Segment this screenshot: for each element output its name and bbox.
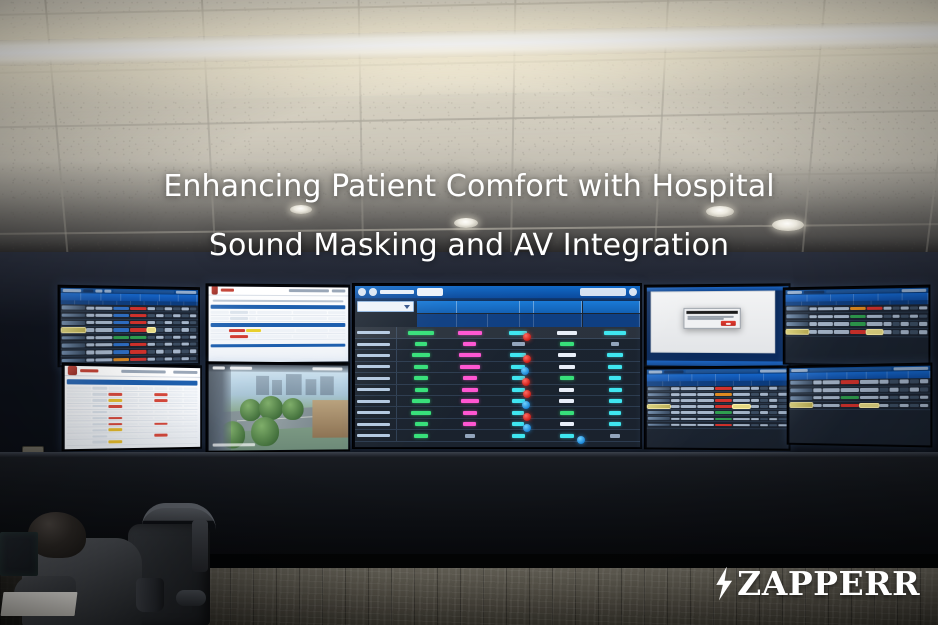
cctv-street-camera-feed (208, 364, 348, 450)
cell-occupied[interactable] (446, 434, 494, 438)
report-header-band (211, 323, 345, 326)
video-wall (56, 280, 934, 452)
hospital-capacity-matrix (355, 286, 640, 447)
row-label (355, 362, 398, 372)
cell-occupied[interactable] (446, 353, 494, 357)
cell-available[interactable] (397, 365, 445, 369)
camera-footer-label (212, 443, 255, 446)
row-label (355, 327, 398, 337)
report-data-grid (211, 310, 345, 322)
cell-occupied[interactable] (446, 342, 494, 346)
alert-dialog[interactable] (683, 308, 741, 328)
report-footer-band (211, 343, 345, 347)
laptop[interactable] (0, 532, 38, 576)
column-header (520, 314, 534, 327)
cell-pending[interactable] (591, 422, 639, 426)
computer-mouse[interactable] (176, 590, 206, 606)
grid-icon[interactable] (358, 288, 366, 296)
app-logo-icon (211, 286, 217, 295)
recessed-downlight (454, 218, 478, 228)
display-panel-regional-occupancy[interactable] (783, 285, 931, 368)
cell-admitted[interactable] (543, 399, 591, 403)
display-panel-bed-board[interactable] (58, 285, 200, 368)
table-row[interactable] (355, 419, 640, 430)
table-row[interactable] (785, 321, 928, 329)
cell-admitted[interactable] (543, 353, 591, 357)
row-label (355, 407, 398, 417)
cell-admitted[interactable] (543, 342, 591, 346)
cell-occupied[interactable] (446, 331, 494, 335)
unit-filter-dropdown[interactable] (357, 301, 414, 312)
screenshot-scene: Enhancing Patient Comfort with Hospital … (0, 0, 938, 625)
display-panel-alert-dialog[interactable] (644, 283, 791, 368)
alert-badge-icon[interactable] (522, 378, 530, 386)
cell-admitted[interactable] (543, 365, 591, 369)
alert-badge-icon[interactable] (523, 390, 531, 398)
cell-admitted[interactable] (543, 434, 591, 438)
cell-escalation[interactable] (494, 399, 542, 403)
recessed-downlight (290, 205, 312, 214)
transfer-queue-board (789, 365, 930, 445)
display-panel-capacity-matrix[interactable] (352, 283, 642, 449)
info-badge-icon[interactable] (521, 367, 529, 375)
cell-escalation[interactable] (494, 331, 542, 335)
matrix-title (380, 290, 414, 294)
app-logo-icon (67, 366, 76, 375)
info-badge-icon[interactable] (577, 436, 585, 444)
city-building (272, 380, 282, 395)
camera-status-label (312, 367, 342, 370)
cell-available[interactable] (397, 411, 445, 415)
dialog-title-bar (686, 311, 737, 314)
matrix-status-pill (417, 288, 443, 296)
report-data-grid (67, 385, 197, 446)
group-header-alp (417, 301, 457, 313)
cell-pending[interactable] (591, 434, 639, 438)
search-box[interactable] (580, 288, 626, 296)
column-header (417, 314, 457, 327)
table-row[interactable] (789, 402, 930, 410)
occupancy-rows (785, 304, 928, 337)
group-header-south (583, 301, 640, 313)
street-tree (282, 398, 304, 420)
table-row[interactable] (355, 350, 640, 361)
table-row-total[interactable] (355, 327, 640, 338)
group-header-central (534, 301, 582, 313)
cell-admitted[interactable] (543, 422, 591, 426)
cell-pending[interactable] (591, 376, 639, 380)
street-tree (259, 396, 283, 420)
cell-occupied[interactable] (446, 388, 494, 392)
group-header-sr1 (520, 301, 534, 313)
report-header-band (211, 305, 345, 309)
cell-available[interactable] (397, 376, 445, 380)
cell-available[interactable] (397, 434, 445, 438)
table-row[interactable] (789, 394, 930, 402)
incident-report-dashboard (64, 365, 200, 449)
paper-document (1, 592, 78, 616)
street-tree (240, 398, 261, 420)
city-building (305, 379, 316, 395)
cell-pending[interactable] (591, 388, 639, 392)
cell-pending[interactable] (591, 342, 639, 346)
home-icon[interactable] (369, 288, 377, 296)
column-header (534, 314, 582, 327)
cell-escalation[interactable] (494, 376, 542, 380)
matrix-toolbar[interactable] (355, 286, 640, 299)
ceiling (0, 0, 938, 268)
row-label (355, 430, 398, 440)
cell-escalation[interactable] (494, 422, 542, 426)
column-header (583, 314, 640, 327)
cell-admitted[interactable] (543, 388, 591, 392)
dialog-ok-button[interactable] (721, 321, 736, 325)
cell-admitted[interactable] (543, 376, 591, 380)
cell-pending[interactable] (591, 399, 639, 403)
alert-badge-icon[interactable] (523, 413, 531, 421)
report-toolbar[interactable] (208, 286, 348, 297)
report-toolbar[interactable] (64, 365, 200, 378)
application-with-alert (646, 286, 788, 366)
row-label (355, 396, 398, 406)
bed-board-rows (60, 304, 198, 364)
cell-escalation[interactable] (494, 388, 542, 392)
report-header-band (67, 379, 197, 385)
table-row[interactable] (67, 438, 197, 446)
cell-admitted[interactable] (543, 411, 591, 415)
cell-available[interactable] (397, 422, 445, 426)
cell-available[interactable] (397, 342, 445, 346)
cell-available[interactable] (397, 353, 445, 357)
cell-escalation[interactable] (494, 365, 542, 369)
cell-pending[interactable] (591, 353, 639, 357)
cell-escalation[interactable] (494, 411, 542, 415)
table-row[interactable] (355, 396, 640, 407)
table-row[interactable] (785, 329, 928, 337)
display-panel-cctv[interactable] (206, 361, 351, 452)
cell-available[interactable] (397, 331, 445, 335)
bed-board-dashboard (60, 287, 198, 364)
cell-occupied[interactable] (446, 376, 494, 380)
camera-timestamp (212, 366, 225, 369)
row-label (355, 385, 398, 395)
row-label (355, 339, 398, 349)
desk-mug (136, 578, 164, 612)
display-panel-transfer-queue[interactable] (787, 363, 933, 448)
city-building (320, 376, 334, 395)
cell-occupied[interactable] (446, 365, 494, 369)
info-badge-icon[interactable] (522, 401, 530, 409)
capacity-matrix-rows (355, 327, 640, 441)
unit-status-board (646, 368, 788, 448)
cell-pending[interactable] (591, 331, 639, 335)
cell-occupied[interactable] (446, 411, 494, 415)
cell-escalation[interactable] (494, 342, 542, 346)
row-label (355, 350, 398, 360)
table-row[interactable] (211, 334, 345, 340)
row-label (355, 373, 398, 383)
display-panel-unit-status[interactable] (644, 365, 791, 450)
table-row[interactable] (355, 373, 640, 384)
group-header-school (457, 301, 520, 313)
desk-top-edge (0, 452, 938, 457)
alert-badge-icon[interactable] (523, 333, 531, 341)
transfer-rows (789, 378, 930, 410)
recessed-downlight (706, 206, 734, 217)
unit-status-rows (646, 386, 788, 429)
row-label (355, 419, 398, 429)
street-tree (251, 417, 279, 446)
table-row[interactable] (355, 339, 640, 350)
document-canvas (650, 291, 774, 353)
column-header (457, 314, 488, 327)
cell-occupied[interactable] (446, 399, 494, 403)
city-building (286, 374, 301, 395)
cell-escalation[interactable] (494, 434, 542, 438)
cell-available[interactable] (397, 388, 445, 392)
report-data-grid (211, 328, 345, 340)
cell-pending[interactable] (591, 411, 639, 415)
roadside-building (312, 400, 347, 437)
foreground-building (208, 364, 231, 450)
cell-admitted[interactable] (543, 331, 591, 335)
city-building (257, 376, 270, 395)
cell-pending[interactable] (591, 365, 639, 369)
dialog-message-line (687, 318, 724, 320)
table-row[interactable] (211, 316, 345, 322)
table-row[interactable] (355, 407, 640, 418)
info-badge-icon[interactable] (523, 424, 531, 432)
divider (212, 300, 343, 303)
cell-escalation[interactable] (494, 353, 542, 357)
camera-name-label (230, 367, 253, 370)
display-panel-incident-report[interactable] (62, 363, 202, 452)
table-row[interactable] (60, 319, 198, 327)
column-header (488, 314, 519, 327)
recessed-downlight (772, 219, 804, 231)
cell-available[interactable] (397, 399, 445, 403)
chair-armrest (192, 520, 208, 572)
patient-flow-dashboard (208, 286, 348, 362)
table-row[interactable] (355, 430, 640, 441)
table-row[interactable] (646, 422, 788, 429)
display-panel-patient-flow[interactable] (206, 283, 351, 364)
table-row[interactable] (355, 362, 640, 373)
cell-occupied[interactable] (446, 422, 494, 426)
table-row[interactable] (355, 385, 640, 396)
gear-icon[interactable] (629, 288, 637, 296)
regional-occupancy-board (785, 287, 928, 365)
